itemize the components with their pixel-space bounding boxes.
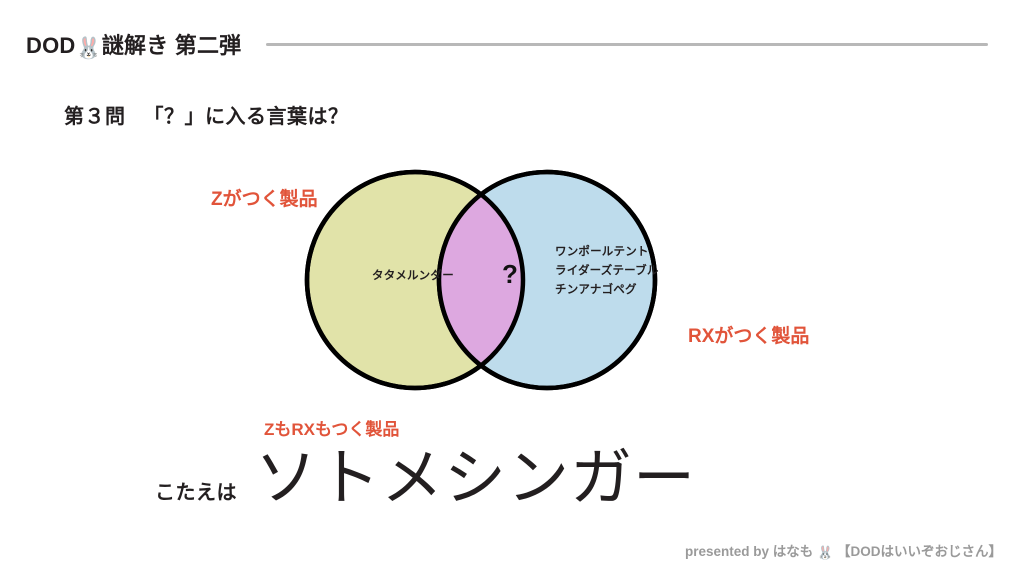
question-line: 第３問「？」に入る言葉は？: [64, 100, 349, 129]
footer-prefix: presented by はなも: [685, 544, 813, 559]
venn-right-items: ワンポールテント ライダーズテーブル チンアナゴペグ: [555, 243, 659, 300]
slide-header: DOD🐰謎解き 第二弾: [0, 0, 1024, 70]
venn-left-items: タタメルンダー: [328, 267, 498, 283]
footer-suffix: 【DODはいいぞおじさん】: [837, 544, 1002, 559]
venn-right-item-2: ライダーズテーブル: [555, 262, 659, 281]
question-text: 「？」に入る言葉は？: [144, 106, 349, 128]
venn-diagram: タタメルンダー ? ワンポールテント ライダーズテーブル チンアナゴペグ: [300, 155, 720, 405]
venn-right-item-3: チンアナゴペグ: [555, 281, 659, 300]
venn-intersection-outside-label: ZもRXもつく製品: [264, 415, 399, 440]
venn-right-item-1: ワンポールテント: [555, 243, 659, 262]
slide-header-title: DOD🐰謎解き 第二弾: [26, 28, 241, 61]
header-title-main: DOD: [26, 33, 76, 58]
answer-prefix: こたえは: [155, 476, 237, 505]
answer-value: ソトメシンガー: [255, 448, 696, 510]
venn-intersection-question-mark: ?: [482, 259, 538, 290]
header-title-rest: 謎解き 第二弾: [102, 33, 242, 58]
rabbit-icon: 🐰: [76, 37, 102, 60]
rabbit-icon-footer: 🐰: [817, 545, 833, 560]
question-number: 第３問: [64, 106, 126, 128]
header-divider: [266, 43, 988, 46]
slide-footer: presented by はなも 🐰 【DODはいいぞおじさん】: [685, 540, 1002, 561]
answer-line: こたえは ソトメシンガー: [155, 448, 696, 510]
